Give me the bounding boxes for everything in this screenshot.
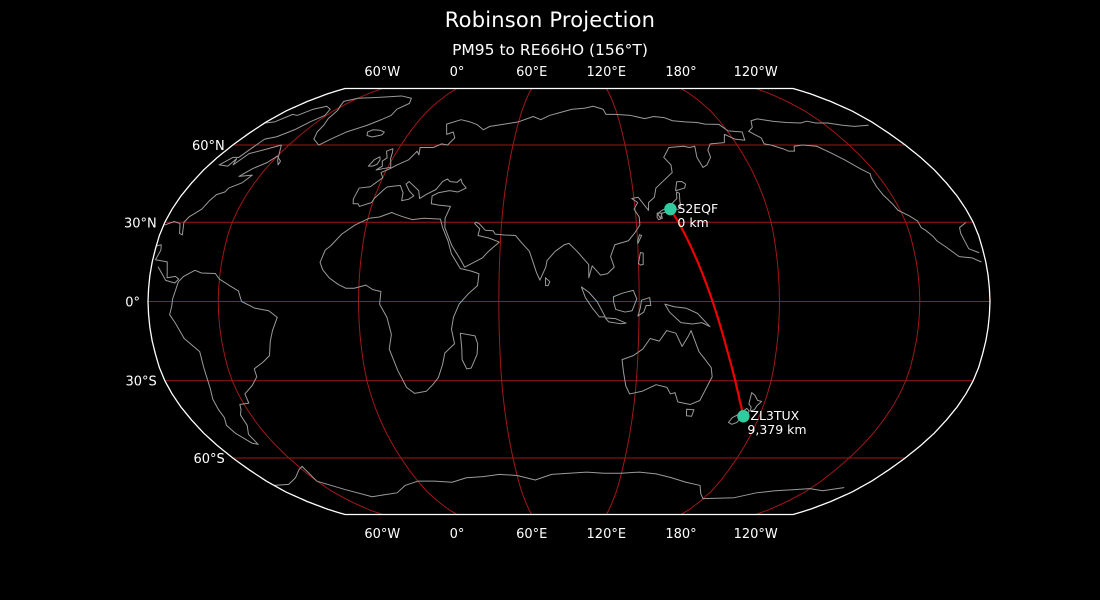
coastline-segment-13 — [638, 298, 651, 316]
map-figure: Robinson Projection PM95 to RE66HO (156°… — [0, 0, 1100, 600]
destination-marker[interactable] — [737, 410, 749, 422]
lon-label-bottom-120: 120°E — [587, 527, 627, 542]
lat-label-60: 60°N — [192, 139, 225, 154]
lon-label-top-0: 0° — [450, 65, 465, 80]
lon-label-top-180: 180° — [665, 65, 696, 80]
origin-label-group: S2EQF 0 km — [677, 201, 718, 230]
great-circle-path — [670, 209, 743, 416]
coastline-segment-8 — [638, 235, 642, 244]
origin-distance-label: 0 km — [677, 215, 708, 230]
destination-label-group: ZL3TUX 9,379 km — [747, 408, 806, 437]
path-segment-0 — [670, 209, 743, 416]
coastline-segment-22 — [367, 130, 384, 137]
lon-label-bottom-180: 180° — [665, 527, 696, 542]
coastlines — [156, 96, 982, 499]
coastline-segment-24 — [274, 466, 703, 498]
coastline-segment-0 — [320, 212, 479, 393]
coastline-segment-20 — [749, 131, 981, 262]
robinson-projection-map: 0°0°60°E60°E120°E120°E180°180°120°W120°W… — [0, 0, 1100, 600]
lat-label-30: 30°N — [124, 216, 157, 231]
coastline-segment-20 — [960, 223, 979, 253]
lon-label-bottom-60: 60°E — [516, 527, 547, 542]
coastline-segment-21 — [314, 96, 412, 145]
coastline-segment-19 — [545, 278, 549, 286]
coastline-segment-9 — [639, 253, 644, 265]
lon-label-top--60: 60°W — [364, 65, 400, 80]
coastline-segment-4 — [368, 157, 380, 166]
lat-label-0: 0° — [125, 296, 140, 311]
coastline-segment-14 — [665, 304, 710, 326]
coastline-segment-20 — [749, 119, 869, 132]
coastline-segment-6 — [676, 182, 686, 191]
graticule — [148, 89, 990, 515]
coastline-segment-24 — [703, 488, 844, 499]
coastline-segment-20 — [156, 245, 179, 283]
lon-label-bottom-0: 0° — [450, 527, 465, 542]
coastline-segment-3 — [376, 149, 393, 170]
origin-marker[interactable] — [664, 203, 676, 215]
lon-label-top-120: 120°E — [587, 65, 627, 80]
coastline-segment-1 — [460, 333, 477, 369]
lat-label--60: 60°S — [194, 452, 225, 467]
lon-label-bottom--120: 120°W — [734, 527, 778, 542]
destination-distance-label: 9,379 km — [747, 422, 806, 437]
origin-callsign-label: S2EQF — [677, 201, 718, 216]
lon-label-top--120: 120°W — [734, 65, 778, 80]
coastline-segment-12 — [605, 318, 626, 324]
latitude-labels: 60°N30°N0°30°S60°S — [124, 139, 225, 467]
coastline-segment-16 — [686, 409, 694, 416]
coastline-segment-20 — [165, 106, 330, 235]
lon-label-bottom--60: 60°W — [364, 527, 400, 542]
longitude-labels: 0°0°60°E60°E120°E120°E180°180°120°W120°W… — [364, 65, 778, 542]
lat-label--30: 30°S — [126, 375, 157, 390]
coastline-segment-2 — [353, 106, 745, 280]
destination-callsign-label: ZL3TUX — [750, 408, 799, 423]
coastline-segment-23 — [170, 270, 278, 444]
lon-label-top-60: 60°E — [516, 65, 547, 80]
